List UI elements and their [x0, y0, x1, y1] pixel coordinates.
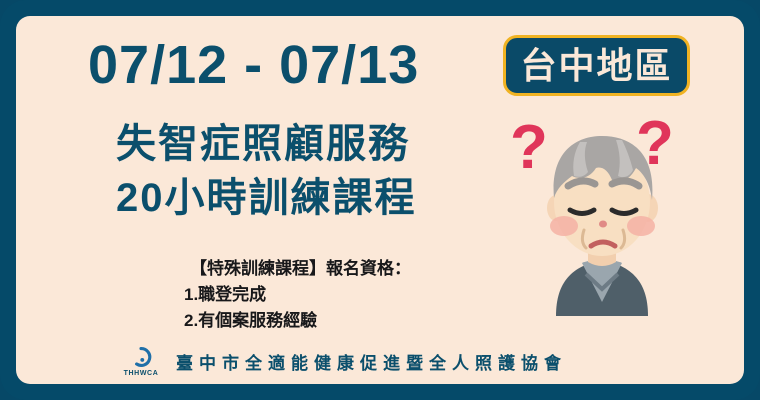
question-mark-left-icon: ? [510, 113, 548, 182]
organization-logo: THHWCA [120, 346, 162, 377]
elderly-man-graphic: ? ? [484, 106, 724, 316]
svg-text:?: ? [510, 113, 548, 182]
footer: THHWCA 臺中市全適能健康促進暨全人照護協會 [120, 346, 567, 377]
poster-inner-area: 07/12 - 07/13 台中地區 失智症照顧服務 20小時訓練課程 【特殊訓… [16, 16, 744, 384]
organization-name: 臺中市全適能健康促進暨全人照護協會 [176, 349, 567, 374]
qualification-title: 【特殊訓練課程】報名資格： [190, 256, 411, 282]
qualification-item-2: 2.有個案服務經驗 [184, 308, 411, 334]
cheek-right [627, 216, 655, 236]
logo-acronym: THHWCA [124, 370, 159, 377]
date-range: 07/12 - 07/13 [88, 38, 419, 92]
region-badge-label: 台中地區 [520, 48, 672, 84]
elderly-man-illustration: ? ? [484, 106, 724, 316]
headline-secondary: 20小時訓練課程 [116, 174, 417, 223]
headline-primary: 失智症照顧服務 [116, 120, 410, 169]
ring-logo-icon [130, 346, 152, 368]
region-badge: 台中地區 [503, 35, 690, 96]
nose-shape [599, 221, 607, 228]
cheek-left [550, 216, 578, 236]
poster-banner: 07/12 - 07/13 台中地區 失智症照顧服務 20小時訓練課程 【特殊訓… [0, 0, 760, 400]
qualification-block: 【特殊訓練課程】報名資格： 1.職登完成 2.有個案服務經驗 [184, 256, 411, 333]
qualification-item-1: 1.職登完成 [184, 282, 411, 308]
